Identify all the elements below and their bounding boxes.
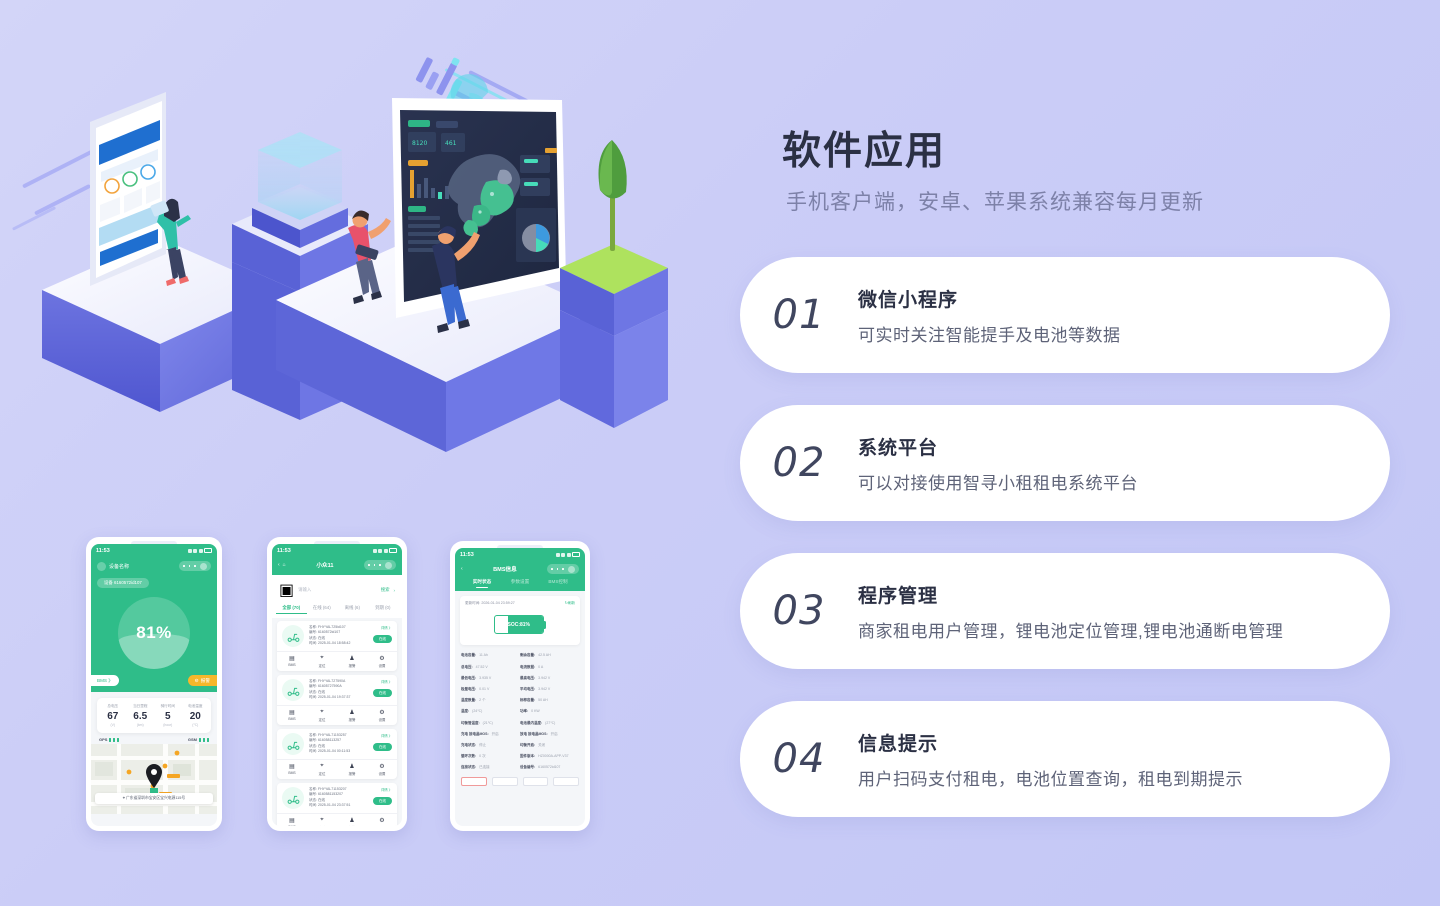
page-subtitle: 手机客户端，安卓、苹果系统兼容每月更新 — [786, 186, 1204, 216]
phone1-statusbar: 11:53 — [91, 544, 217, 557]
table-row: 总电压:47.52 V电流数据:0 A — [457, 661, 583, 672]
back-icon[interactable] — [97, 562, 106, 571]
battery-cap-icon — [544, 621, 547, 629]
bms-icon: ▤ — [277, 709, 307, 716]
table-cell: 最低电压:3.935 V — [461, 676, 520, 681]
table-cell: 电池最内温度:(27℃) — [520, 721, 579, 726]
scooter-icon — [282, 787, 304, 809]
battery-stats: 总电压 67 (V) 当日里程 6.5 (km) 骑行时间 5 (hour) 电… — [97, 698, 211, 733]
feature-card-04[interactable]: 04 信息提示 用户扫码支付租电，电池位置查询，租电到期提示 — [740, 701, 1390, 817]
stat-unit: (km) — [127, 723, 155, 727]
bms-footer-buttons — [455, 773, 585, 790]
filter-tabs: 全部 (70) 在线 (64) 离线 (6) 到期 (0) — [272, 603, 402, 618]
stat-label: 当日里程 — [127, 704, 155, 709]
table-cell: 平均电压:3.942 V — [520, 687, 579, 692]
phone3-screen: 11:53 ‹ BMS信息 实时状态 参数设置 BMS控制 — [455, 548, 585, 826]
cell-value: 0 次 — [479, 754, 485, 759]
item-actions: ▤BMS⌖定位♟报警⚙设置 — [277, 813, 397, 826]
cell-key: 电池容量: — [461, 653, 476, 658]
phone2-header: ‹ ⌂ 小众11 — [272, 557, 402, 575]
stat-unit: (℃) — [182, 723, 210, 727]
phone2-screen: 11:53 ‹ ⌂ 小众11 ▣ 请 — [272, 544, 402, 826]
定位-icon: ⌖ — [307, 709, 337, 716]
footer-button-4[interactable] — [553, 777, 579, 786]
card-number: 01 — [740, 292, 858, 338]
more-button[interactable] — [547, 564, 579, 574]
tab-expired[interactable]: 到期 (0) — [368, 605, 399, 614]
action-定位[interactable]: ⌖定位 — [307, 817, 337, 826]
phone2-statusbar: 11:53 — [272, 544, 402, 557]
action-设置[interactable]: ⚙设置 — [367, 709, 397, 722]
bms-chip[interactable]: BMS 》 — [91, 675, 119, 686]
cell-key: 温度: — [461, 709, 469, 714]
device-label: 设备名称 — [109, 563, 129, 570]
action-bms[interactable]: ▤BMS — [277, 709, 307, 722]
right-content-panel: 软件应用 手机客户端，安卓、苹果系统兼容每月更新 01 微信小程序 可实时关注智… — [740, 0, 1440, 906]
定位-icon: ⌖ — [307, 655, 337, 662]
cell-key: 标称容量: — [520, 698, 535, 703]
cell-value: (21℃) — [483, 721, 493, 726]
phone-mockup-device-list: 11:53 ‹ ⌂ 小众11 ▣ 请 — [267, 537, 407, 831]
tab-control[interactable]: BMS控制 — [539, 579, 577, 591]
cell-key: 平均电压: — [520, 687, 535, 692]
table-cell: 电池容量:11 Ah — [461, 653, 520, 658]
phone2-title: 小众11 — [316, 561, 333, 569]
stat-value: 20 — [182, 711, 210, 722]
signal-row: GPS GSM — [91, 733, 217, 744]
action-设置[interactable]: ⚙设置 — [367, 763, 397, 776]
more-button[interactable] — [364, 560, 396, 570]
phone1-chips-row: BMS 》 ⚙ 报警 — [91, 675, 217, 692]
chevron-right-icon[interactable]: › — [394, 588, 395, 593]
back-row[interactable]: ‹ ⌂ — [278, 562, 286, 568]
feature-card-03[interactable]: 03 程序管理 商家租电用户管理，锂电池定位管理,锂电池通断电管理 — [740, 553, 1390, 669]
card-body: 信息提示 用户扫码支付租电，电池位置查询，租电到期提示 — [858, 729, 1390, 790]
bms-icon: ▤ — [277, 817, 307, 824]
cell-value: 0 A — [538, 665, 543, 670]
card-description: 可以对接使用智寻小租租电系统平台 — [858, 469, 1364, 494]
action-bms[interactable]: ▤BMS — [277, 655, 307, 668]
table-cell: 充电状态:停止 — [461, 743, 520, 748]
table-cell: 电流数据:0 A — [520, 665, 579, 670]
stat-value: 67 — [99, 711, 127, 722]
cell-key: 温度数量: — [461, 698, 476, 703]
cell-value: 3.942 V — [538, 676, 550, 681]
table-row: 循环次数:0 次固件版本:HZ0000A-APP-V37 — [457, 751, 583, 762]
item-actions: ▤BMS⌖定位♟报警⚙设置 — [277, 705, 397, 725]
footer-button-2[interactable] — [492, 777, 518, 786]
status-time: 11:53 — [96, 548, 110, 554]
cell-key: 连接状态: — [461, 765, 476, 770]
stat-label: 骑行时间 — [154, 704, 182, 709]
table-row: 充电状态:停止均衡开启:关闭 — [457, 740, 583, 751]
cell-key: 固件版本: — [520, 754, 535, 759]
card-title: 系统平台 — [858, 433, 1364, 460]
table-row: 电池容量:11 Ah剩余容量:42.5 AH — [457, 650, 583, 661]
table-cell: 固件版本:HZ0000A-APP-V37 — [520, 754, 579, 759]
stat-value: 6.5 — [127, 711, 155, 722]
action-报警[interactable]: ♟报警 — [337, 655, 367, 668]
status-time: 11:53 — [277, 548, 291, 554]
warning-label: 报警 — [201, 678, 210, 684]
phone1-header: 设备名称 设备 6160572id107 — [91, 557, 217, 589]
warning-chip[interactable]: ⚙ 报警 — [188, 675, 217, 686]
address-text: 广东省深圳市宝安区宝兴电源115号 — [126, 796, 185, 800]
action-定位[interactable]: ⌖定位 — [307, 655, 337, 668]
status-icons — [373, 548, 398, 553]
stat-item: 电池温度 20 (℃) — [182, 704, 210, 727]
bms-card: 更新时间: 2026-01-04 23:59:27 ↻刷新 SOC:81% — [460, 596, 580, 645]
table-row: 充电 接电晶MOS:开启放电 接电晶MOS:开启 — [457, 729, 583, 740]
card-description: 可实时关注智能提手及电池等数据 — [858, 321, 1364, 346]
stat-label: 电池温度 — [182, 704, 210, 709]
scan-icon[interactable]: ▣ — [279, 580, 294, 600]
battery-indicator: SOC:81% — [465, 606, 575, 640]
报警-icon: ♟ — [337, 817, 367, 824]
table-cell: 循环次数:0 次 — [461, 754, 520, 759]
address-bar: ⌖ 广东省深圳市宝安区宝兴电源115号 — [95, 793, 213, 804]
warning-icon: ⚙ — [195, 678, 199, 684]
cell-value: 0.01 V — [479, 687, 489, 692]
cell-key: 放电 接电晶MOS: — [520, 732, 548, 737]
cell-key: 均衡管温度: — [461, 721, 480, 726]
status-badge: 在线 — [373, 689, 392, 697]
tab-offline[interactable]: 离线 (6) — [337, 605, 368, 614]
stat-item: 当日里程 6.5 (km) — [127, 704, 155, 727]
cell-value: 3.942 V — [538, 687, 550, 692]
card-title: 信息提示 — [858, 729, 1364, 756]
设置-icon: ⚙ — [367, 709, 397, 716]
设置-icon: ⚙ — [367, 763, 397, 770]
card-description: 商家租电用户管理，锂电池定位管理,锂电池通断电管理 — [858, 617, 1364, 642]
table-cell: 标称容量:50 AH — [520, 698, 579, 703]
cell-value: 3.935 V — [479, 676, 491, 681]
table-cell: 均衡开启:关闭 — [520, 743, 579, 748]
action-报警[interactable]: ♟报警 — [337, 763, 367, 776]
action-报警[interactable]: ♟报警 — [337, 817, 367, 826]
phone-mockup-battery-detail: 11:53 设备名称 设备 6160572id107 — [86, 537, 222, 831]
cell-key: 最低电压: — [461, 676, 476, 681]
table-row: 温度数量:2 个标称容量:50 AH — [457, 695, 583, 706]
gsm-label: GSM — [188, 737, 197, 742]
cell-value: 42.5 AH — [538, 653, 550, 658]
cell-value: 0 KW — [531, 709, 540, 714]
action-定位[interactable]: ⌖定位 — [307, 763, 337, 776]
card-number: 04 — [740, 736, 858, 782]
action-报警[interactable]: ♟报警 — [337, 709, 367, 722]
bms-icon: ▤ — [277, 763, 307, 770]
cell-key: 充电 接电晶MOS: — [461, 732, 489, 737]
gsm-signal: GSM — [188, 737, 209, 742]
报警-icon: ♟ — [337, 655, 367, 662]
device-name-row: 设备名称 — [97, 562, 129, 571]
search-input[interactable]: 请输入 — [298, 587, 377, 593]
phone3-statusbar: 11:53 — [455, 548, 585, 561]
cell-value: HZ0000A-APP-V37 — [538, 754, 568, 759]
refresh-button[interactable]: ↻刷新 — [565, 601, 575, 606]
device-list: 名称: FHYYAL725id107 编号: 6160572id107 状态: … — [272, 618, 402, 826]
cell-key: 总电压: — [461, 665, 473, 670]
phone1-screen: 11:53 设备名称 设备 6160572id107 — [91, 544, 217, 826]
list-item[interactable]: 名称: FHYYAL71153207 编号: 6160581153207 状态:… — [277, 783, 397, 826]
设置-icon: ⚙ — [367, 817, 397, 824]
back-chevron-icon[interactable]: ‹ — [461, 566, 463, 572]
stat-item: 总电压 67 (V) — [99, 704, 127, 727]
cell-value: 6160572id107 — [538, 765, 560, 770]
cell-key: 均衡开启: — [520, 743, 535, 748]
stat-value: 5 — [154, 711, 182, 722]
footer-button-1[interactable] — [461, 777, 487, 786]
table-row: 均衡管温度:(21℃)电池最内温度:(27℃) — [457, 717, 583, 728]
cell-value: 11 Ah — [479, 653, 488, 658]
cell-key: 功率: — [520, 709, 528, 714]
card-title: 程序管理 — [858, 581, 1364, 608]
card-number: 03 — [740, 588, 858, 634]
table-row: 连接状态:已连接设备编号:6160572id107 — [457, 762, 583, 773]
cell-key: 电池最内温度: — [520, 721, 542, 726]
search-button[interactable]: 搜索 — [381, 587, 390, 593]
status-badge: 在线 — [373, 635, 392, 643]
cell-value: 47.52 V — [476, 665, 488, 670]
card-description: 用户扫码支付租电，电池位置查询，租电到期提示 — [858, 765, 1364, 790]
status-badge: 在线 — [373, 797, 392, 805]
cell-key: 剩余容量: — [520, 653, 535, 658]
search-bar[interactable]: ▣ 请输入 搜索 › — [272, 575, 402, 603]
table-cell: 均衡管温度:(21℃) — [461, 721, 520, 726]
报警-icon: ♟ — [337, 763, 367, 770]
cell-key: 循环次数: — [461, 754, 476, 759]
list-item[interactable]: 名称: FHYYAL725id107 编号: 6160572id107 状态: … — [277, 621, 397, 671]
cell-key: 设备编号: — [520, 765, 535, 770]
scooter-icon — [282, 733, 304, 755]
stat-item: 骑行时间 5 (hour) — [154, 704, 182, 727]
cell-value: (27℃) — [545, 721, 555, 726]
tab-realtime[interactable]: 实时状态 — [463, 579, 501, 591]
phone-mockup-bms-info: 11:53 ‹ BMS信息 实时状态 参数设置 BMS控制 — [450, 541, 590, 831]
gps-signal: GPS — [99, 737, 119, 742]
item-actions: ▤BMS⌖定位♟报警⚙设置 — [277, 759, 397, 779]
stat-unit: (V) — [99, 723, 127, 727]
status-icons — [556, 552, 581, 557]
battery-body: SOC:81% — [494, 615, 544, 634]
stat-label: 总电压 — [99, 704, 127, 709]
cell-value: (24℃) — [472, 709, 482, 714]
back-chevron-icon[interactable]: ‹ — [278, 562, 280, 568]
table-cell: 温度:(24℃) — [461, 709, 520, 714]
tab-params[interactable]: 参数设置 — [501, 579, 539, 591]
status-badge: 在线 — [373, 743, 392, 751]
cell-value: 开启 — [492, 732, 499, 737]
table-cell: 设备编号:6160572id107 — [520, 765, 579, 770]
footer-button-3[interactable] — [523, 777, 549, 786]
table-cell: 极差电压:0.01 V — [461, 687, 520, 692]
cell-value: 2 个 — [479, 698, 485, 703]
cell-value: 开启 — [551, 732, 558, 737]
card-body: 微信小程序 可实时关注智能提手及电池等数据 — [858, 285, 1390, 346]
detail-link[interactable]: 详情 》 — [373, 625, 392, 630]
status-time: 11:53 — [460, 552, 474, 558]
table-cell: 最高电压:3.942 V — [520, 676, 579, 681]
feature-card-01[interactable]: 01 微信小程序 可实时关注智能提手及电池等数据 — [740, 257, 1390, 373]
cell-value: 已连接 — [479, 765, 490, 770]
device-tag: 设备 6160572id107 — [97, 578, 149, 588]
table-cell: 剩余容量:42.5 AH — [520, 653, 579, 658]
cell-key: 极差电压: — [461, 687, 476, 692]
设置-icon: ⚙ — [367, 655, 397, 662]
定位-icon: ⌖ — [307, 763, 337, 770]
action-bms[interactable]: ▤BMS — [277, 817, 307, 826]
table-row: 极差电压:0.01 V平均电压:3.942 V — [457, 684, 583, 695]
phone3-title: BMS信息 — [493, 565, 517, 573]
cell-key: 最高电压: — [520, 676, 535, 681]
table-cell: 放电 接电晶MOS:开启 — [520, 732, 579, 737]
tab-online[interactable]: 在线 (64) — [307, 605, 338, 614]
update-time: 更新时间: 2026-01-04 23:59:27 — [465, 601, 515, 606]
list-item[interactable]: 名称: FHYYAL727590A 编号: 61605727590A 状态: 在… — [277, 675, 397, 725]
cell-value: 停止 — [479, 743, 486, 748]
item-actions: ▤BMS⌖定位♟报警⚙设置 — [277, 651, 397, 671]
phone3-header: ‹ BMS信息 实时状态 参数设置 BMS控制 — [455, 561, 585, 591]
page-title: 软件应用 — [782, 120, 946, 176]
soc-label: SOC:81% — [495, 616, 543, 633]
card-number: 02 — [740, 440, 858, 486]
battery-percent: 81% — [136, 623, 172, 643]
gps-label: GPS — [99, 737, 107, 742]
table-row: 最低电压:3.935 V最高电压:3.942 V — [457, 673, 583, 684]
scooter-icon — [282, 625, 304, 647]
battery-gauge-wrap: 81% — [91, 589, 217, 675]
location-map[interactable]: ⌖ 广东省深圳市宝安区宝兴电源115号 — [91, 744, 217, 814]
bms-tabs: 实时状态 参数设置 BMS控制 — [461, 574, 579, 591]
action-bms[interactable]: ▤BMS — [277, 763, 307, 776]
action-设置[interactable]: ⚙设置 — [367, 817, 397, 826]
detail-link[interactable]: 详情 》 — [373, 679, 392, 684]
scooter-icon — [282, 679, 304, 701]
cell-value: 50 AH — [538, 698, 548, 703]
bms-icon: ▤ — [277, 655, 307, 662]
table-row: 温度:(24℃)功率:0 KW — [457, 706, 583, 717]
table-cell: 功率:0 KW — [520, 709, 579, 714]
cell-key: 充电状态: — [461, 743, 476, 748]
bms-data-table: 电池容量:11 Ah剩余容量:42.5 AH 总电压:47.52 V电流数据:0… — [455, 650, 585, 773]
action-设置[interactable]: ⚙设置 — [367, 655, 397, 668]
more-button[interactable] — [179, 561, 211, 571]
cell-key: 电流数据: — [520, 665, 535, 670]
stat-unit: (hour) — [154, 723, 182, 727]
feature-card-02[interactable]: 02 系统平台 可以对接使用智寻小租租电系统平台 — [740, 405, 1390, 521]
home-icon[interactable]: ⌂ — [283, 562, 286, 568]
table-cell: 连接状态:已连接 — [461, 765, 520, 770]
detail-link[interactable]: 详情 》 — [373, 787, 392, 792]
tab-all[interactable]: 全部 (70) — [276, 605, 307, 614]
feature-card-list: 01 微信小程序 可实时关注智能提手及电池等数据 02 系统平台 可以对接使用智… — [740, 257, 1400, 849]
action-定位[interactable]: ⌖定位 — [307, 709, 337, 722]
location-pin-icon: ⌖ — [123, 796, 125, 800]
card-title: 微信小程序 — [858, 285, 1364, 312]
cell-value: 关闭 — [538, 743, 545, 748]
table-cell: 温度数量:2 个 — [461, 698, 520, 703]
table-cell: 总电压:47.52 V — [461, 665, 520, 670]
定位-icon: ⌖ — [307, 817, 337, 824]
detail-link[interactable]: 详情 》 — [373, 733, 392, 738]
list-item[interactable]: 名称: FHYYAL71153257 编号: 616058113257 状态: … — [277, 729, 397, 779]
card-body: 系统平台 可以对接使用智寻小租租电系统平台 — [858, 433, 1390, 494]
card-body: 程序管理 商家租电用户管理，锂电池定位管理,锂电池通断电管理 — [858, 581, 1390, 642]
报警-icon: ♟ — [337, 709, 367, 716]
status-icons — [188, 548, 213, 553]
table-cell: 充电 接电晶MOS:开启 — [461, 732, 520, 737]
battery-gauge: 81% — [118, 597, 190, 669]
